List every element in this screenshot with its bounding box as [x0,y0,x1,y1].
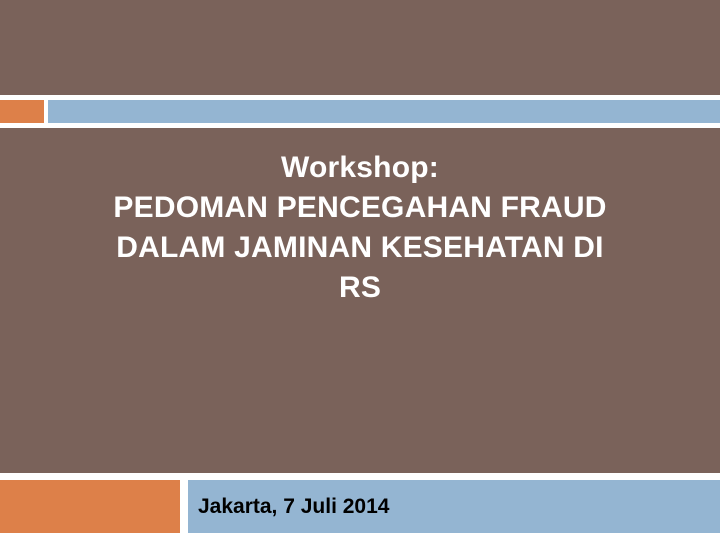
slide-title: Workshop: PEDOMAN PENCEGAHAN FRAUD DALAM… [36,148,684,308]
title-line-4: RS [36,268,684,308]
title-line-1: Workshop: [36,148,684,188]
footer-subtitle: Jakarta, 7 Juli 2014 [198,480,389,533]
bottom-margin [0,533,720,540]
footer-blue-bar: Jakarta, 7 Juli 2014 [188,480,720,533]
top-accent-band [0,95,720,128]
presentation-slide: Workshop: PEDOMAN PENCEGAHAN FRAUD DALAM… [0,0,720,540]
title-line-2: PEDOMAN PENCEGAHAN FRAUD [36,188,684,228]
footer-orange-block [0,480,180,533]
top-accent-orange-block [0,100,44,123]
top-accent-blue-bar [48,100,720,123]
title-line-3: DALAM JAMINAN KESEHATAN DI [36,228,684,268]
footer-band: Jakarta, 7 Juli 2014 [0,480,720,533]
